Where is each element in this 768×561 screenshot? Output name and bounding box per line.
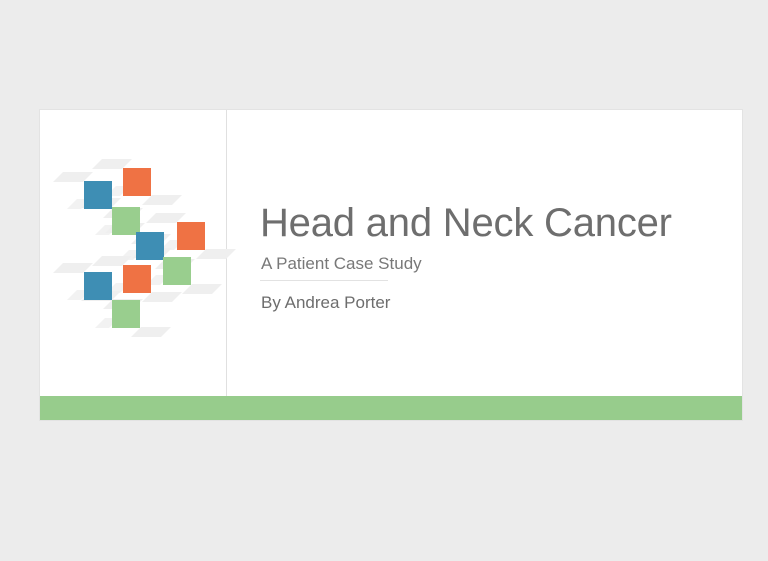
tile-face (84, 272, 112, 300)
tile-face (123, 265, 151, 293)
cascading-squares-logo-icon (70, 160, 200, 330)
slide-accent-bar (40, 396, 742, 420)
tile-face (84, 181, 112, 209)
slide-content-panel: Head and Neck Cancer A Patient Case Stud… (227, 110, 742, 396)
tile-green-1-icon (112, 207, 140, 235)
slide-logo-panel (40, 110, 227, 396)
tile-trail-icon (142, 292, 182, 302)
tile-face (177, 222, 205, 250)
slide-subtitle: A Patient Case Study (261, 255, 422, 272)
tile-orange-2-icon (177, 222, 205, 250)
tile-trail-icon (142, 195, 182, 205)
tile-face (163, 257, 191, 285)
title-divider (260, 280, 388, 281)
slide-author-byline: By Andrea Porter (261, 294, 390, 311)
tile-green-2-icon (163, 257, 191, 285)
tile-face (123, 168, 151, 196)
tile-face (136, 232, 164, 260)
tile-blue-1-icon (84, 181, 112, 209)
slide-title: Head and Neck Cancer (260, 203, 672, 243)
tile-green-3-icon (112, 300, 140, 328)
tile-face (112, 207, 140, 235)
tile-trail-icon (182, 284, 222, 294)
tile-blue-2-icon (136, 232, 164, 260)
tile-trail-icon (131, 327, 171, 337)
tile-orange-3-icon (123, 265, 151, 293)
tile-orange-1-icon (123, 168, 151, 196)
presentation-slide: Head and Neck Cancer A Patient Case Stud… (40, 110, 742, 420)
tile-blue-3-icon (84, 272, 112, 300)
tile-face (112, 300, 140, 328)
